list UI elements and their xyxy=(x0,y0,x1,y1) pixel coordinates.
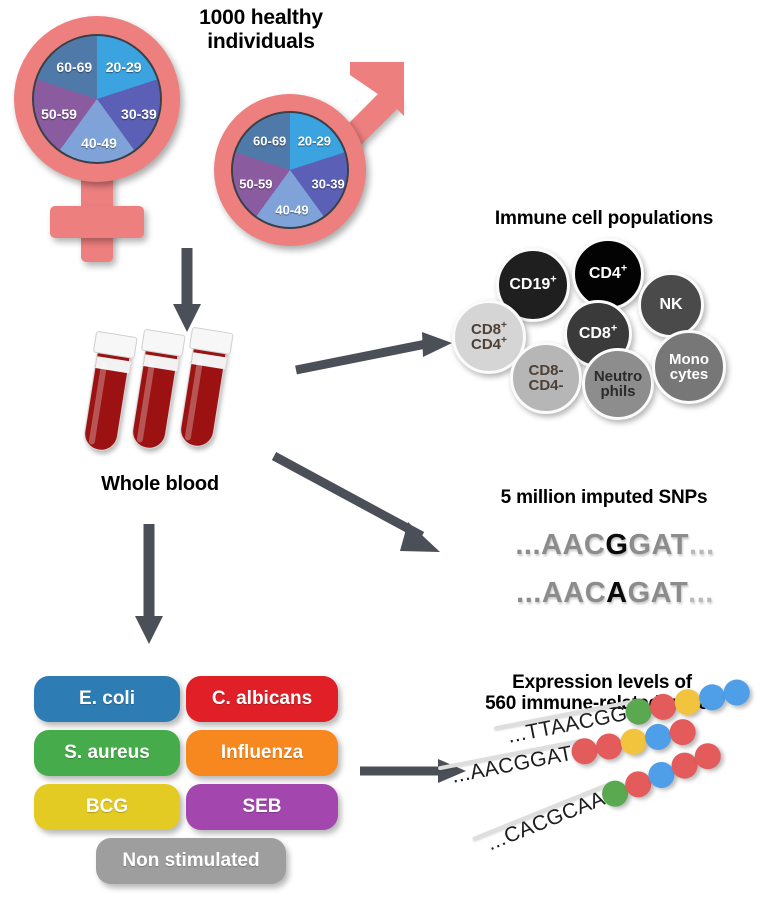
immune-cell-label: Neutrophils xyxy=(594,369,642,400)
age-distribution-pie-female: 20-2930-3940-4950-5960-69 xyxy=(32,34,162,164)
stimulus-influenza[interactable]: Influenza xyxy=(186,730,338,776)
immune-cell-neutrophils: Neutrophils xyxy=(582,348,654,420)
section-title-immune-cells: Immune cell populations xyxy=(446,208,762,229)
blood-tube-body xyxy=(82,341,132,453)
stimulus-seb[interactable]: SEB xyxy=(186,784,338,830)
blood-tube-highlight xyxy=(136,359,155,443)
blood-tube xyxy=(178,327,230,449)
age-group-label-60-69: 60-69 xyxy=(56,59,92,75)
age-group-label-50-59: 50-59 xyxy=(41,106,77,122)
snp-prefix: ...AAC xyxy=(515,529,605,562)
blood-tube-body xyxy=(178,337,228,449)
gene-bead xyxy=(593,731,623,761)
snp-row-allele-g: ...AACGGAT... xyxy=(470,524,760,566)
immune-cell-cd8cd4neg: CD8-CD4- xyxy=(510,342,582,414)
snp-prefix: ...AAC xyxy=(516,577,606,610)
blood-tube-body xyxy=(130,339,180,451)
immune-cell-population-cluster: CD19+CD4+CD8+CD4+CD8+NKCD8-CD4-Neutrophi… xyxy=(452,238,762,420)
gene-bead xyxy=(722,677,752,707)
male-symbol: 20-2930-3940-4950-5960-69 xyxy=(206,58,406,252)
stimulus-s-aureus[interactable]: S. aureus xyxy=(34,730,180,776)
blood-tube xyxy=(130,329,182,451)
snp-variant-base: G xyxy=(605,529,628,562)
cohort-title-line1: 1000 healthy xyxy=(158,6,364,30)
stimuli-panel: E. coliC. albicansS. aureusInfluenzaBCGS… xyxy=(34,676,344,892)
gene-expression-strands: ...TTAACGG...AACGGAT...CACGCAA xyxy=(452,720,764,910)
snp-suffix: GAT xyxy=(628,529,689,562)
snp-tail: ... xyxy=(688,577,714,610)
immune-cell-label: CD8+ xyxy=(579,326,617,342)
whole-blood-tubes xyxy=(96,330,276,460)
stimulus-e-coli[interactable]: E. coli xyxy=(34,676,180,722)
immune-cell-label: CD8+CD4+ xyxy=(471,322,507,353)
age-group-label-20-29: 20-29 xyxy=(106,59,142,75)
gene-bead xyxy=(618,727,648,757)
arrow-blood-to-stimuli xyxy=(134,524,164,646)
age-distribution-pie-male: 20-2930-3940-4950-5960-69 xyxy=(231,111,349,229)
stimulus-c-albicans[interactable]: C. albicans xyxy=(186,676,338,722)
gene-bead xyxy=(643,722,673,752)
arrow-cohort-to-blood xyxy=(172,248,202,334)
immune-cell-label: CD8-CD4- xyxy=(528,363,563,394)
snp-row-allele-a: ...AACAGAT... xyxy=(470,572,760,614)
age-group-label-50-59: 50-59 xyxy=(239,176,272,191)
arrow-blood-to-immune xyxy=(294,330,454,376)
cohort-title-line2: individuals xyxy=(158,30,364,54)
diagram-canvas: 1000 healthy individuals 20-2930-3940-49… xyxy=(0,0,771,922)
blood-tube xyxy=(82,331,134,453)
immune-cell-nk: NK xyxy=(638,272,704,338)
strand-sequence-text: ...CACGCAA xyxy=(484,787,609,856)
blood-tube-highlight xyxy=(184,357,203,441)
age-group-label-40-49: 40-49 xyxy=(275,203,308,218)
age-group-label-30-39: 30-39 xyxy=(312,176,345,191)
female-symbol-crossbar xyxy=(50,206,144,238)
arrow-blood-to-snps xyxy=(272,452,458,562)
blood-tube-highlight xyxy=(88,361,107,445)
gene-bead xyxy=(697,682,727,712)
immune-cell-label: CD19+ xyxy=(509,277,556,293)
age-group-label-30-39: 30-39 xyxy=(121,106,157,122)
immune-cell-label: Monocytes xyxy=(669,352,709,383)
stimulus-bcg[interactable]: BCG xyxy=(34,784,180,830)
age-group-label-40-49: 40-49 xyxy=(81,135,117,151)
immune-cell-cd4: CD4+ xyxy=(572,238,644,310)
immune-cell-label: CD4+ xyxy=(589,266,627,282)
page-title-cohort: 1000 healthy individuals xyxy=(158,6,364,53)
age-group-label-60-69: 60-69 xyxy=(253,134,286,149)
strand-sequence-text: ...AACGGAT xyxy=(450,742,575,789)
immune-cell-label: NK xyxy=(659,297,682,313)
stimulus-non-stimulated[interactable]: Non stimulated xyxy=(96,838,286,884)
snp-suffix: GAT xyxy=(628,577,689,610)
immune-cell-monocytes: Monocytes xyxy=(652,330,726,404)
snp-tail: ... xyxy=(689,529,715,562)
section-title-snps: 5 million imputed SNPs xyxy=(446,487,762,508)
age-group-label-20-29: 20-29 xyxy=(298,134,331,149)
snp-variant-base: A xyxy=(606,577,627,610)
snp-sequence-group: ...AACGGAT......AACAGAT... xyxy=(470,524,760,620)
female-symbol: 20-2930-3940-4950-5960-69 xyxy=(8,12,186,264)
whole-blood-label: Whole blood xyxy=(60,473,260,495)
